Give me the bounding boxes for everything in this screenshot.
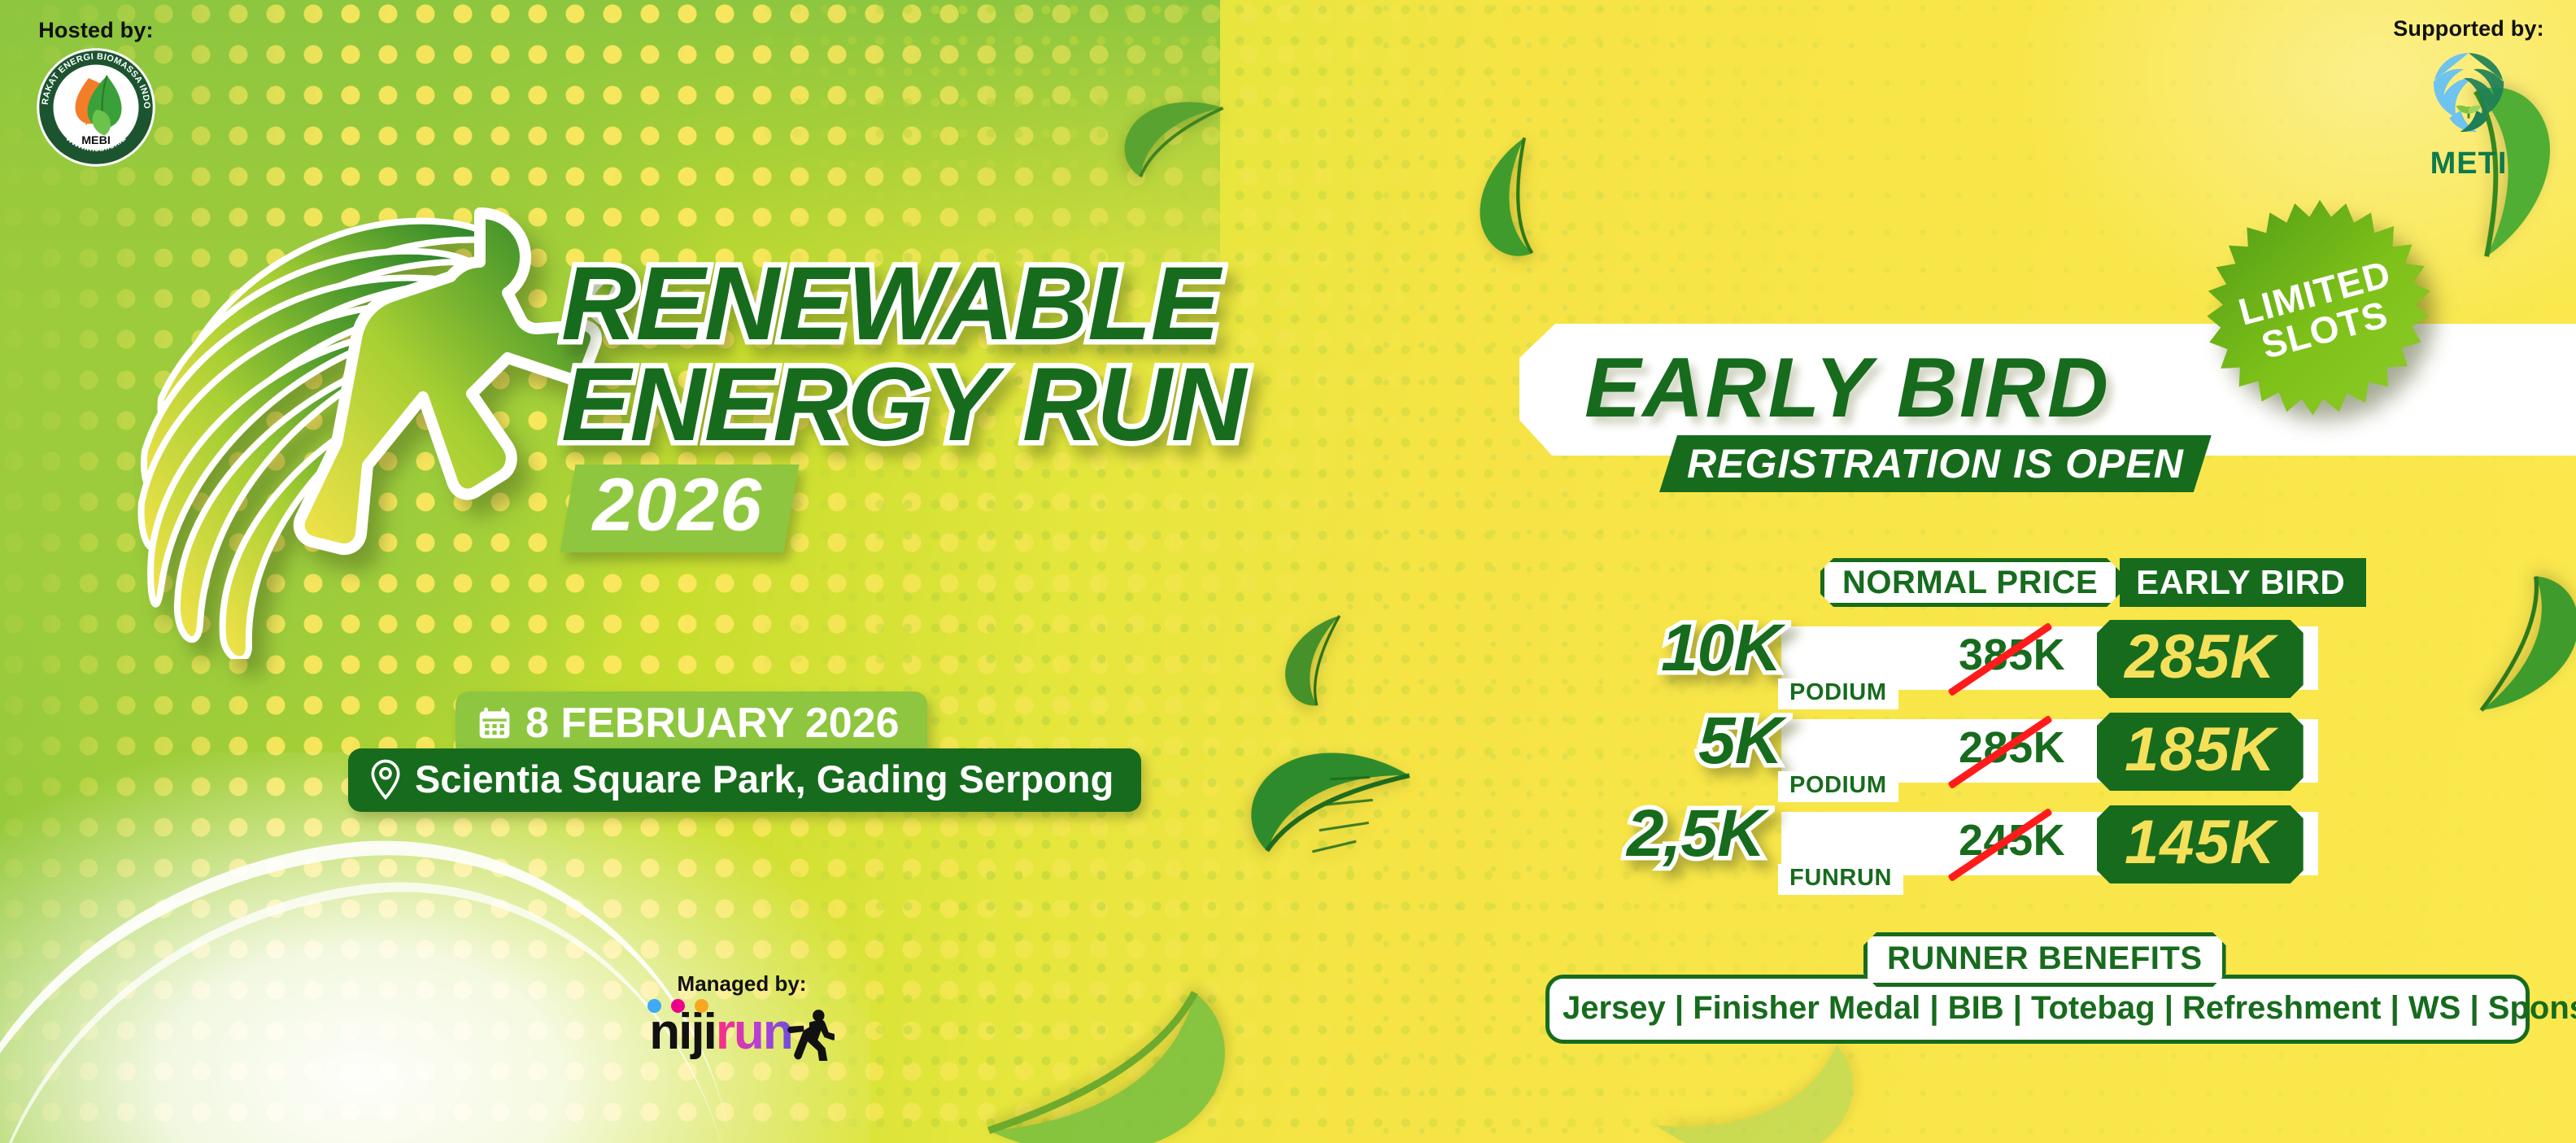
pricing-header-normal: NORMAL PRICE: [1820, 558, 2120, 607]
registration-open-text: REGISTRATION IS OPEN: [1687, 443, 2184, 484]
nijirun-logo: niji run: [604, 1004, 880, 1058]
hosted-by-label: Hosted by:: [15, 20, 177, 41]
strikethrough-icon: [1944, 622, 2051, 690]
halftone-dots-medium: [732, 0, 1871, 1143]
pricing-row: 10K PODIUM 385K 285K: [1619, 620, 2440, 711]
leaf-icon: [1255, 604, 1380, 725]
runner-benefits-title: RUNNER BENEFITS: [1863, 932, 2226, 987]
calendar-icon: [477, 705, 512, 742]
hosted-by-block: Hosted by: MASYARAKAT ENERGI BIOMASSA IN…: [15, 20, 177, 172]
event-location-chip: Scientia Square Park, Gading Serpong: [348, 748, 1141, 812]
pricing-category: PODIUM: [1778, 678, 1898, 709]
title-year: 2026: [593, 468, 763, 544]
title-year-badge: 2026: [560, 465, 799, 552]
event-location-text: Scientia Square Park, Gading Serpong: [415, 757, 1114, 801]
pricing-table-header: NORMAL PRICE EARLY BIRD: [1820, 558, 2366, 607]
pricing-table-rows: 10K PODIUM 385K 285K 5K PODIUM 285K 185K…: [1619, 620, 2440, 898]
managed-by-label: Managed by:: [604, 973, 880, 994]
pricing-category: PODIUM: [1778, 771, 1898, 802]
strikethrough-icon: [1944, 714, 2051, 783]
pricing-distance: 5K: [1698, 708, 1782, 774]
nijirun-logo-dots: [647, 999, 708, 1013]
pricing-early-price: 145K: [2125, 808, 2276, 877]
pricing-early-price-box: 285K: [2097, 620, 2304, 698]
nijirun-logo-part2: run: [716, 1007, 792, 1058]
event-banner: Hosted by: MASYARAKAT ENERGI BIOMASSA IN…: [0, 0, 2576, 1143]
meti-logo-text: METI: [2379, 148, 2558, 179]
runner-icon: [784, 1007, 835, 1061]
pricing-row: 5K PODIUM 285K 185K: [1619, 713, 2440, 804]
nijirun-logo-part1: niji: [649, 1007, 716, 1058]
title-line-1: RENEWABLE: [561, 256, 1521, 352]
managed-by-block: Managed by: niji run: [604, 973, 880, 1058]
meti-logo: [2421, 46, 2517, 142]
leaf-icon: [1210, 695, 1433, 912]
early-bird-headline: EARLY BIRD: [1584, 334, 2110, 443]
event-date-chip: 8 FEBRUARY 2026: [455, 691, 927, 757]
mebi-logo: MASYARAKAT ENERGI BIOMASSA INDONESIA www…: [35, 46, 157, 168]
event-title: RENEWABLE ENERGY RUN 2026: [561, 256, 1521, 552]
svg-text:MEBI: MEBI: [81, 134, 111, 147]
map-pin-icon: [369, 759, 402, 800]
pricing-distance: 10K: [1661, 615, 1781, 682]
runner-globe-logo: [96, 155, 617, 659]
leaf-icon: [951, 914, 1287, 1143]
pricing-category: FUNRUN: [1778, 864, 1903, 895]
supported-by-block: Supported by: METI: [2379, 18, 2558, 179]
leaf-icon: [1101, 73, 1237, 203]
pricing-early-price: 185K: [2125, 715, 2276, 784]
title-line-2: ENERGY RUN: [561, 357, 1521, 453]
pricing-early-price-box: 145K: [2097, 805, 2304, 883]
leaf-icon: [2434, 553, 2576, 729]
strikethrough-icon: [1944, 807, 2051, 875]
pricing-row: 2,5K FUNRUN 245K 145K: [1619, 805, 2440, 897]
background-swoosh-line-1: [0, 796, 741, 1143]
registration-open-bar: REGISTRATION IS OPEN: [1659, 435, 2212, 492]
supported-by-label: Supported by:: [2379, 18, 2558, 40]
limited-slots-badge: LIMITED SLOTS: [2206, 198, 2434, 425]
pricing-distance: 2,5K: [1627, 801, 1764, 867]
pricing-early-price: 285K: [2125, 622, 2276, 691]
pricing-header-early: EARLY BIRD: [2120, 558, 2366, 607]
event-date-text: 8 FEBRUARY 2026: [525, 699, 900, 748]
pricing-early-price-box: 185K: [2097, 713, 2304, 791]
